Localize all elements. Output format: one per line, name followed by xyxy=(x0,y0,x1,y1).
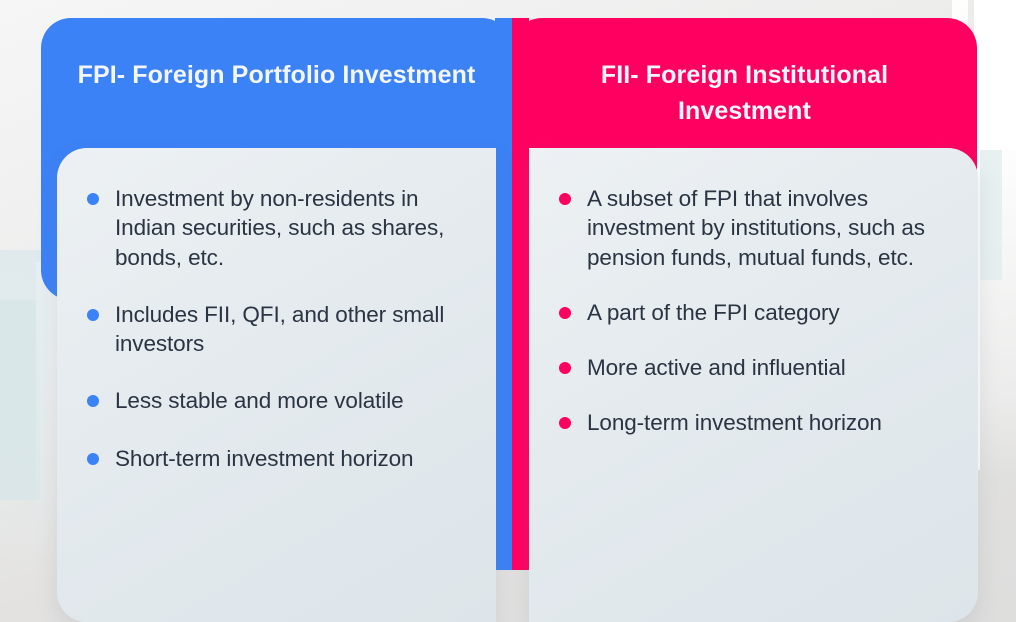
comparison-infographic: FPI- Foreign Portfolio Investment FII- F… xyxy=(0,0,1016,622)
bullet-dot-icon xyxy=(559,307,571,319)
list-item: Short-term investment horizon xyxy=(83,444,470,473)
bullet-dot-icon xyxy=(559,193,571,205)
background-decoration-top-right xyxy=(974,0,1016,150)
list-item-text: Long-term investment horizon xyxy=(587,410,882,435)
bullet-dot-icon xyxy=(559,417,571,429)
background-decoration-left-band xyxy=(0,300,40,500)
bullet-dot-icon xyxy=(87,395,99,407)
bullet-dot-icon xyxy=(87,309,99,321)
list-item-text: Less stable and more volatile xyxy=(115,388,404,413)
list-item: A subset of FPI that involves investment… xyxy=(555,184,952,272)
card-fii-title: FII- Foreign Institutional Investment xyxy=(512,58,977,129)
list-item: Investment by non-residents in Indian se… xyxy=(83,184,470,272)
bullet-dot-icon xyxy=(559,362,571,374)
list-item-text: A subset of FPI that involves investment… xyxy=(587,186,925,270)
divider-bar-pink xyxy=(512,18,529,570)
list-item: Less stable and more volatile xyxy=(83,386,470,415)
fpi-bullet-list: Investment by non-residents in Indian se… xyxy=(57,148,496,473)
fii-bullet-list: A subset of FPI that involves investment… xyxy=(529,148,978,438)
list-item-text: Includes FII, QFI, and other small inves… xyxy=(115,302,444,356)
list-item-text: More active and influential xyxy=(587,355,846,380)
card-fpi-title: FPI- Foreign Portfolio Investment xyxy=(41,58,512,94)
list-item-text: Short-term investment horizon xyxy=(115,446,413,471)
divider-bar-blue xyxy=(495,18,512,570)
bullet-dot-icon xyxy=(87,193,99,205)
bullet-dot-icon xyxy=(87,453,99,465)
list-item: A part of the FPI category xyxy=(555,298,952,327)
list-item-text: Investment by non-residents in Indian se… xyxy=(115,186,444,270)
list-item: More active and influential xyxy=(555,353,952,382)
panel-fpi-content: Investment by non-residents in Indian se… xyxy=(57,148,496,622)
list-item-text: A part of the FPI category xyxy=(587,300,840,325)
list-item: Long-term investment horizon xyxy=(555,408,952,437)
panel-fii-content: A subset of FPI that involves investment… xyxy=(529,148,978,622)
list-item: Includes FII, QFI, and other small inves… xyxy=(83,300,470,359)
